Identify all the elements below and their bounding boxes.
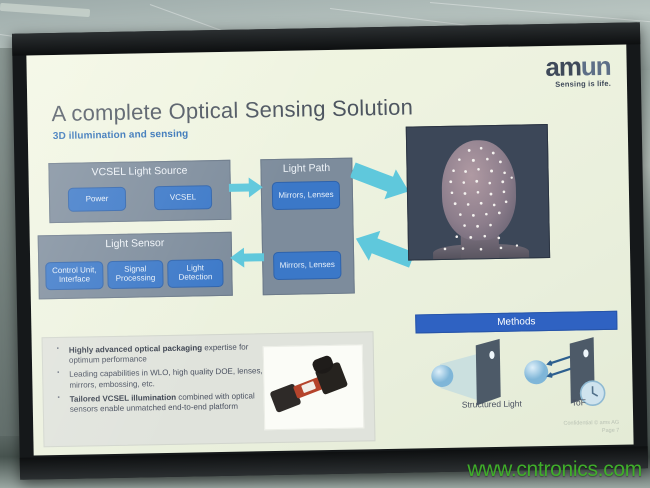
structured-light-icon bbox=[431, 339, 501, 406]
bullet-strong: Tailored VCSEL illumination bbox=[70, 393, 177, 404]
projection-screen: amun Sensing is life. A complete Optical… bbox=[12, 22, 648, 479]
ceiling-light-strip bbox=[0, 3, 90, 17]
arrow-source-to-path-icon bbox=[229, 177, 263, 198]
slide-title: A complete Optical Sensing Solution bbox=[51, 94, 413, 127]
ams-logo: amun Sensing is life. bbox=[545, 55, 611, 90]
arrow-scene-to-path-icon bbox=[352, 224, 415, 273]
bullet-rest: Leading capabilities in WLO, high qualit… bbox=[69, 367, 263, 390]
block-header: VCSEL Light Source bbox=[49, 164, 229, 179]
dot-pattern-icon bbox=[407, 125, 549, 260]
ceiling-tile-line bbox=[430, 2, 650, 23]
block-header: Light Path bbox=[261, 162, 351, 176]
product-photo bbox=[263, 344, 365, 430]
logo-mark-accent: un bbox=[581, 51, 611, 82]
chip-mirrors-lenses-receive: Mirrors, Lenses bbox=[273, 251, 342, 280]
logo-mark: amun bbox=[545, 55, 611, 80]
method-label-tof: ToF bbox=[553, 397, 605, 408]
methods-diagram bbox=[424, 333, 626, 423]
chip-signal-processing: Signal Processing bbox=[107, 260, 164, 289]
face-structured-light-photo bbox=[406, 124, 550, 261]
presentation-slide: amun Sensing is life. A complete Optical… bbox=[26, 45, 633, 456]
chip-power: Power bbox=[68, 187, 126, 212]
chip-vcsel: VCSEL bbox=[154, 185, 212, 210]
chip-light-detection: Light Detection bbox=[167, 259, 224, 288]
list-item: Tailored VCSEL illumination combined wit… bbox=[56, 391, 266, 415]
chip-control-unit-interface: Control Unit, Interface bbox=[45, 261, 104, 290]
sensor-module-icon bbox=[264, 345, 363, 429]
block-light-sensor: Light Sensor Control Unit, Interface Sig… bbox=[38, 232, 233, 300]
slide-subtitle: 3D illumination and sensing bbox=[53, 129, 189, 142]
chip-mirrors-lenses-emit: Mirrors, Lenses bbox=[272, 181, 341, 210]
slide-footer: Confidential © ams AG Page 7 bbox=[563, 418, 619, 436]
logo-mark-main: am bbox=[545, 51, 581, 82]
features-panel: Highly advanced optical packaging expert… bbox=[42, 331, 376, 447]
list-item: Highly advanced optical packaging expert… bbox=[55, 342, 265, 366]
bullet-strong: Highly advanced optical packaging bbox=[69, 343, 203, 354]
site-watermark: www.cntronics.com bbox=[467, 458, 642, 482]
block-vcsel-light-source: VCSEL Light Source Power VCSEL bbox=[48, 160, 231, 223]
footer-page-number: Page 7 bbox=[564, 426, 620, 435]
tof-clock-icon bbox=[524, 337, 605, 406]
arrow-path-to-scene-icon bbox=[350, 156, 413, 205]
methods-banner-label: Methods bbox=[497, 316, 536, 328]
block-header: Light Sensor bbox=[39, 236, 231, 252]
list-item: Leading capabilities in WLO, high qualit… bbox=[55, 367, 265, 391]
features-bullet-list: Highly advanced optical packaging expert… bbox=[55, 342, 266, 419]
logo-tagline: Sensing is life. bbox=[546, 79, 611, 89]
block-light-path: Light Path Mirrors, Lenses Mirrors, Lens… bbox=[260, 158, 354, 296]
methods-banner: Methods bbox=[415, 311, 617, 334]
arrow-path-to-sensor-icon bbox=[230, 247, 264, 268]
method-label-structured-light: Structured Light bbox=[457, 398, 527, 409]
